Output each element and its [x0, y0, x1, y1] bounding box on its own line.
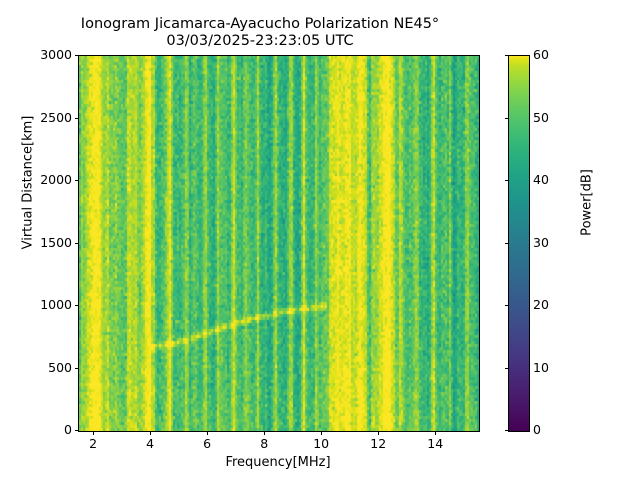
x-tick-mark: [321, 431, 322, 435]
colorbar-tick-label: 0: [533, 422, 573, 437]
x-tick-mark: [264, 431, 265, 435]
y-tick-label: 0: [12, 422, 72, 437]
y-tick-mark: [75, 243, 79, 244]
colorbar-tick-mark: [505, 118, 509, 119]
ionogram-plot-area: [78, 55, 480, 432]
colorbar-tick-label: 50: [533, 110, 573, 125]
ionogram-heatmap: [79, 56, 479, 431]
x-tick-label: 4: [130, 436, 170, 451]
power-colorbar: [508, 55, 530, 432]
colorbar-tick-mark: [505, 243, 509, 244]
colorbar-tick-label: 10: [533, 360, 573, 375]
colorbar-tick-label: 40: [533, 172, 573, 187]
x-axis-label: Frequency[MHz]: [78, 455, 478, 470]
x-tick-mark: [150, 431, 151, 435]
y-tick-mark: [75, 180, 79, 181]
x-tick-label: 10: [301, 436, 341, 451]
colorbar-label: Power[dB]: [580, 113, 595, 293]
colorbar-tick-mark: [505, 368, 509, 369]
y-tick-mark: [75, 118, 79, 119]
x-tick-mark: [378, 431, 379, 435]
x-tick-label: 12: [358, 436, 398, 451]
colorbar-tick-mark: [505, 55, 509, 56]
x-tick-mark: [93, 431, 94, 435]
title-line-1: Ionogram Jicamarca-Ayacucho Polarization…: [81, 16, 439, 32]
ionogram-figure: Ionogram Jicamarca-Ayacucho Polarization…: [0, 0, 640, 480]
colorbar-tick-mark: [505, 180, 509, 181]
x-tick-label: 6: [187, 436, 227, 451]
x-tick-label: 2: [73, 436, 113, 451]
x-tick-mark: [207, 431, 208, 435]
y-tick-mark: [75, 55, 79, 56]
y-tick-mark: [75, 430, 79, 431]
colorbar-tick-label: 30: [533, 235, 573, 250]
colorbar-tick-mark: [505, 305, 509, 306]
y-axis-label: Virtual Distance[km]: [21, 83, 36, 283]
colorbar-tick-label: 60: [533, 47, 573, 62]
title-line-2: 03/03/2025-23:23:05 UTC: [0, 33, 520, 50]
x-tick-label: 14: [415, 436, 455, 451]
y-tick-label: 500: [12, 360, 72, 375]
x-tick-mark: [435, 431, 436, 435]
y-tick-mark: [75, 368, 79, 369]
x-tick-label: 8: [244, 436, 284, 451]
y-tick-mark: [75, 305, 79, 306]
colorbar-tick-label: 20: [533, 297, 573, 312]
colorbar-tick-mark: [505, 430, 509, 431]
y-tick-label: 1000: [12, 297, 72, 312]
y-tick-label: 3000: [12, 47, 72, 62]
figure-title: Ionogram Jicamarca-Ayacucho Polarization…: [0, 16, 520, 50]
